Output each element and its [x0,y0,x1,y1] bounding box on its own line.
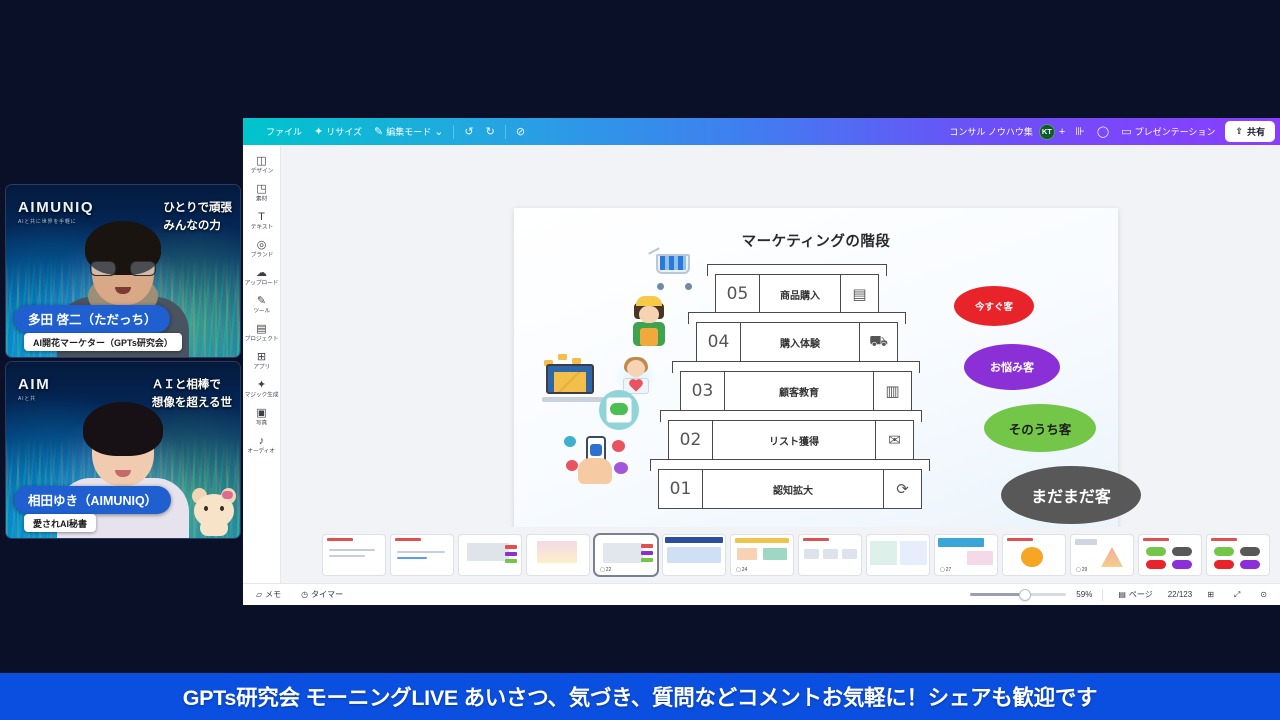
comment-icon: ▢ [736,567,741,573]
upload-icon: ⇪ [1235,126,1243,137]
undo-icon: ↺ [464,125,473,138]
email-laptop-illustration [542,360,604,406]
page-view-button[interactable]: ▤ ページ [1113,587,1157,602]
step-number: 02 [669,421,713,459]
sidebar-item-uploads[interactable]: ☁ アップロード [244,264,280,289]
screen-root: AIMUNIQ AIと共に世界を手軽に ひとりで頑張 みんなの力 多田 啓二（た… [0,0,1280,720]
sidebar-item-brand[interactable]: ◎ ブランド [244,236,280,261]
notes-button[interactable]: ▱ メモ [251,587,286,602]
stair-step-02: 02 リスト獲得 ✉ [660,410,922,462]
sidebar-item-text[interactable]: T テキスト [244,208,280,233]
sidebar-item-design[interactable]: ◫ デザイン [244,152,280,177]
present-icon: ▭ [1121,125,1131,138]
divider [453,125,454,139]
logo-text: AIM [18,376,50,393]
cohost-role-tag: 愛されAI秘書 [24,514,96,532]
status-bar: ▱ メモ ◷ タイマー 59% ▤ ページ 22/123 [243,583,1280,605]
page-count-label: 22/123 [1168,590,1192,599]
comment-count-badge: ▢24 [734,567,749,573]
step-number: 05 [716,275,760,313]
comment-count-badge: ▢29 [1074,567,1089,573]
comments-button[interactable]: ◯ [1091,122,1115,141]
step-label: 購入体験 [741,323,859,361]
divider [1102,589,1103,601]
dog-mascot-icon [192,488,236,536]
megaphone-refresh-icon: ⟳ [883,470,921,508]
slide-title: マーケティングの階段 [514,230,1118,251]
cloud-check-icon: ⊘ [516,125,525,138]
add-member-button[interactable]: + [1055,126,1069,138]
divider [505,125,506,139]
zoom-slider-handle[interactable] [1020,590,1030,600]
help-button[interactable]: ⊙ [1255,588,1272,601]
slide-thumbnail-strip[interactable]: ▢22 ▢24 ▢27 ▢29 [281,527,1280,583]
file-menu-button[interactable]: ファイル [260,122,308,141]
grid-view-button[interactable]: ⊞ [1202,588,1219,601]
sidebar-item-magic-media[interactable]: ✦ マジック生成 [244,376,280,401]
redo-icon: ↻ [486,125,495,138]
line-app-illustration [599,390,639,430]
note-icon: ▱ [256,590,262,599]
thumbnail[interactable] [391,535,453,575]
elements-icon: ◳ [256,183,266,195]
presenter-role-tag: AI開花マーケター（GPTs研究会） [24,333,182,351]
fullscreen-button[interactable]: ⤢ [1229,588,1245,602]
timer-button[interactable]: ◷ タイマー [296,587,348,602]
slide-canvas[interactable]: マーケティングの階段 [514,208,1118,548]
stair-step-03: 03 顧客教育 ▥ [672,361,920,413]
comment-icon: ▢ [1076,567,1081,573]
step-label: 顧客教育 [725,372,873,410]
thumbnail[interactable]: ▢27 [935,535,997,575]
sidebar-item-tools[interactable]: ✎ ツール [244,292,280,317]
projects-icon: ▤ [256,323,266,335]
share-button[interactable]: ⇪ 共有 [1225,121,1275,142]
apps-icon: ⊞ [257,351,266,363]
pencil-icon: ✎ [374,125,383,138]
smartphone-hand-illustration [564,426,630,484]
marketing-stairs-diagram: 05 商品購入 ▤ 04 購入体験 ⛟ [660,264,917,508]
hamburger-icon[interactable] [248,127,260,136]
step-number: 04 [697,323,741,361]
customer-segment-blob-onayami: お悩み客 [964,344,1060,390]
stair-step-05: 05 商品購入 ▤ [707,264,887,316]
step-number: 01 [659,470,703,508]
bar-chart-icon: ⊪ [1075,125,1085,138]
thumbnail[interactable] [799,535,861,575]
avatar[interactable]: KT [1039,124,1055,140]
customer-segment-blob-imasugu: 今すぐ客 [954,286,1034,326]
resize-button[interactable]: ✦ リサイズ [308,122,368,141]
zoom-slider[interactable] [970,593,1066,596]
zoom-slider-fill [970,593,1020,596]
redo-button[interactable]: ↻ [480,122,501,141]
stair-step-04: 04 購入体験 ⛟ [688,312,906,364]
thumbnail[interactable] [867,535,929,575]
step-number: 03 [681,372,725,410]
customer-segment-blob-madamada: まだまだ客 [1001,466,1141,524]
customer-segment-blob-sonouchi: そのうち客 [984,404,1096,452]
comment-icon: ◯ [1097,125,1109,138]
analytics-button[interactable]: ⊪ [1069,122,1091,141]
zoom-level-label: 59% [1076,590,1092,599]
webcam-tile-presenter: AIMUNIQ AIと共に世界を手軽に ひとりで頑張 みんなの力 多田 啓二（た… [6,185,240,357]
photos-icon: ▣ [256,407,266,419]
tools-icon: ✎ [257,295,266,307]
thumbnail[interactable] [1207,535,1269,575]
sparkle-icon: ✦ [314,125,323,138]
grid-view-icon: ⊞ [1207,590,1214,599]
audio-icon: ♪ [259,435,265,447]
thumbnail[interactable] [1003,535,1065,575]
comment-count-badge: ▢27 [938,567,953,573]
present-button[interactable]: ▭ プレゼンテーション [1115,122,1221,141]
thumbnail[interactable] [663,535,725,575]
help-icon: ⊙ [1260,590,1267,599]
shopping-cart-icon: ⛟ [859,323,897,361]
sidebar-item-elements[interactable]: ◳ 素材 [244,180,280,205]
chevron-down-icon: ⌄ [434,125,443,138]
comment-icon: ▢ [600,567,605,573]
thumbnail[interactable]: ▢29 [1071,535,1133,575]
brand-icon: ◎ [257,239,267,251]
thumbnail[interactable] [323,535,385,575]
thumbnail[interactable] [459,535,521,575]
canva-app-window: ファイル ✦ リサイズ ✎ 編集モード ⌄ ↺ ↻ ⊘ [243,118,1280,605]
logo-subtitle: AIと共 [18,395,50,402]
cloud-sync-status[interactable]: ⊘ [510,122,531,141]
fullscreen-icon: ⤢ [1234,590,1240,600]
team-name-label[interactable]: コンサル ノウハウ集 [943,122,1039,141]
books-icon: ▥ [873,372,911,410]
live-stream-banner: GPTs研究会 モーニングLIVE あいさつ、気づき、質問などコメントお気軽に！… [0,673,1280,720]
cash-register-icon: ▤ [840,275,878,313]
step-label: 認知拡大 [703,470,883,508]
app-body: ◫ デザイン ◳ 素材 T テキスト ◎ ブランド ☁ アップロード [243,145,1280,605]
cohost-name-tag: 相田ゆき（AIMUNIQ） [14,486,171,514]
thumbnail[interactable] [527,535,589,575]
webcam-tile-cohost: AIM AIと共 ＡＩと相棒で 想像を超える世 相田ゆき（AIMUNIQ） 愛さ… [6,362,240,538]
magic-media-icon: ✦ [257,379,266,391]
edit-mode-dropdown[interactable]: ✎ 編集モード ⌄ [368,122,449,141]
step-label: リスト獲得 [713,421,875,459]
app-toolbar: ファイル ✦ リサイズ ✎ 編集モード ⌄ ↺ ↻ ⊘ [243,118,1280,145]
clock-icon: ◷ [301,590,308,599]
aimuniq-logo: AIM AIと共 [18,376,50,402]
upload-icon: ☁ [256,267,267,279]
presenter-name-tag: 多田 啓二（ただっち） [14,305,170,333]
comment-icon: ▢ [940,567,945,573]
sidebar-item-projects[interactable]: ▤ プロジェクト [244,320,280,345]
undo-button[interactable]: ↺ [458,122,479,141]
comment-count-badge: ▢22 [598,567,613,573]
sidebar-item-audio[interactable]: ♪ オーディオ [244,432,280,457]
glasses-icon [90,261,156,277]
design-icon: ◫ [256,155,266,167]
thumbnail[interactable]: ▢24 [731,535,793,575]
sidebar-item-photos[interactable]: ▣ 写真 [244,404,280,429]
logo-text: AIMUNIQ [18,199,94,216]
sidebar-item-apps[interactable]: ⊞ アプリ [244,348,280,373]
thumbnail-selected[interactable]: ▢22 [595,535,657,575]
banner-text: GPTs研究会 モーニングLIVE あいさつ、気づき、質問などコメントお気軽に！… [183,681,1098,712]
step-label: 商品購入 [760,275,840,313]
text-icon: T [258,211,265,223]
mail-document-icon: ✉ [875,421,913,459]
thumbnail[interactable] [1139,535,1201,575]
stair-step-01: 01 認知拡大 ⟳ [650,459,930,511]
left-sidebar: ◫ デザイン ◳ 素材 T テキスト ◎ ブランド ☁ アップロード [243,145,281,605]
page-icon: ▤ [1118,590,1126,599]
